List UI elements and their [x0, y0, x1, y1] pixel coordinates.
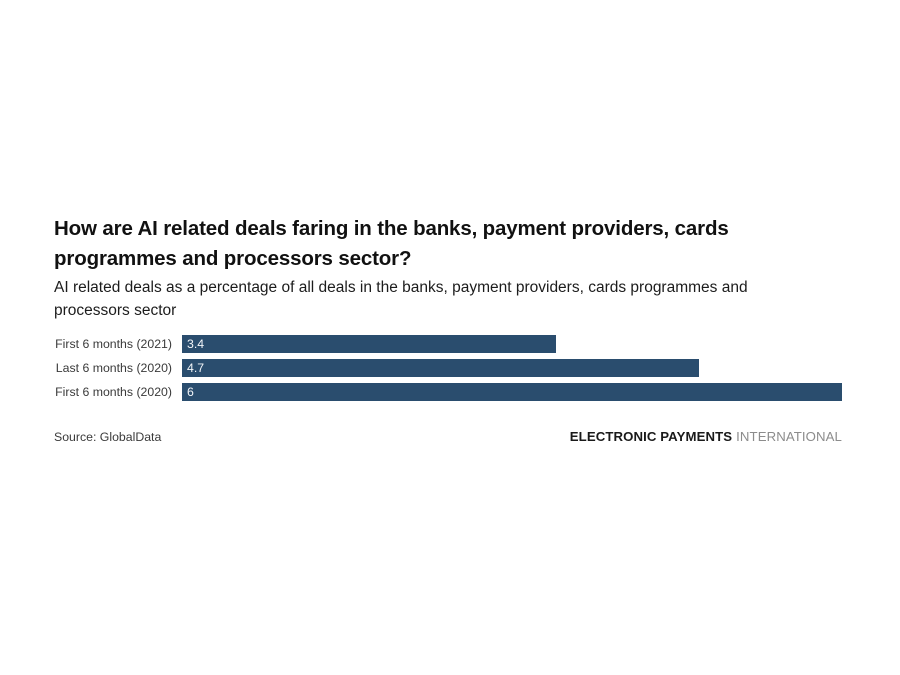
- publisher-name-primary: ELECTRONIC PAYMENTS: [570, 429, 732, 444]
- bar-segment[interactable]: 6: [182, 383, 842, 401]
- table-row: Last 6 months (2020) 4.7: [54, 359, 842, 377]
- bar-track: 4.7: [182, 359, 842, 377]
- bar-value-label: 4.7: [182, 359, 204, 377]
- bar-track: 3.4: [182, 335, 842, 353]
- bar-chart-plot-area: First 6 months (2021) 3.4 Last 6 months …: [54, 335, 842, 401]
- bar-category-label: First 6 months (2021): [54, 335, 182, 353]
- table-row: First 6 months (2020) 6: [54, 383, 842, 401]
- publisher-name-secondary: INTERNATIONAL: [736, 429, 842, 444]
- chart-figure: How are AI related deals faring in the b…: [0, 0, 900, 675]
- bar-segment[interactable]: 4.7: [182, 359, 699, 377]
- chart-title: How are AI related deals faring in the b…: [54, 214, 844, 273]
- table-row: First 6 months (2021) 3.4: [54, 335, 842, 353]
- bar-segment[interactable]: 3.4: [182, 335, 556, 353]
- chart-content: How are AI related deals faring in the b…: [54, 214, 844, 401]
- chart-subtitle: AI related deals as a percentage of all …: [54, 277, 826, 323]
- bar-track: 6: [182, 383, 842, 401]
- source-note: Source: GlobalData: [54, 429, 161, 445]
- bar-category-label: First 6 months (2020): [54, 383, 182, 401]
- bar-category-label: Last 6 months (2020): [54, 359, 182, 377]
- publisher-logo: ELECTRONIC PAYMENTSINTERNATIONAL: [570, 429, 842, 445]
- bar-value-label: 6: [182, 383, 194, 401]
- chart-footer: Source: GlobalData ELECTRONIC PAYMENTSIN…: [54, 429, 842, 445]
- bar-value-label: 3.4: [182, 335, 204, 353]
